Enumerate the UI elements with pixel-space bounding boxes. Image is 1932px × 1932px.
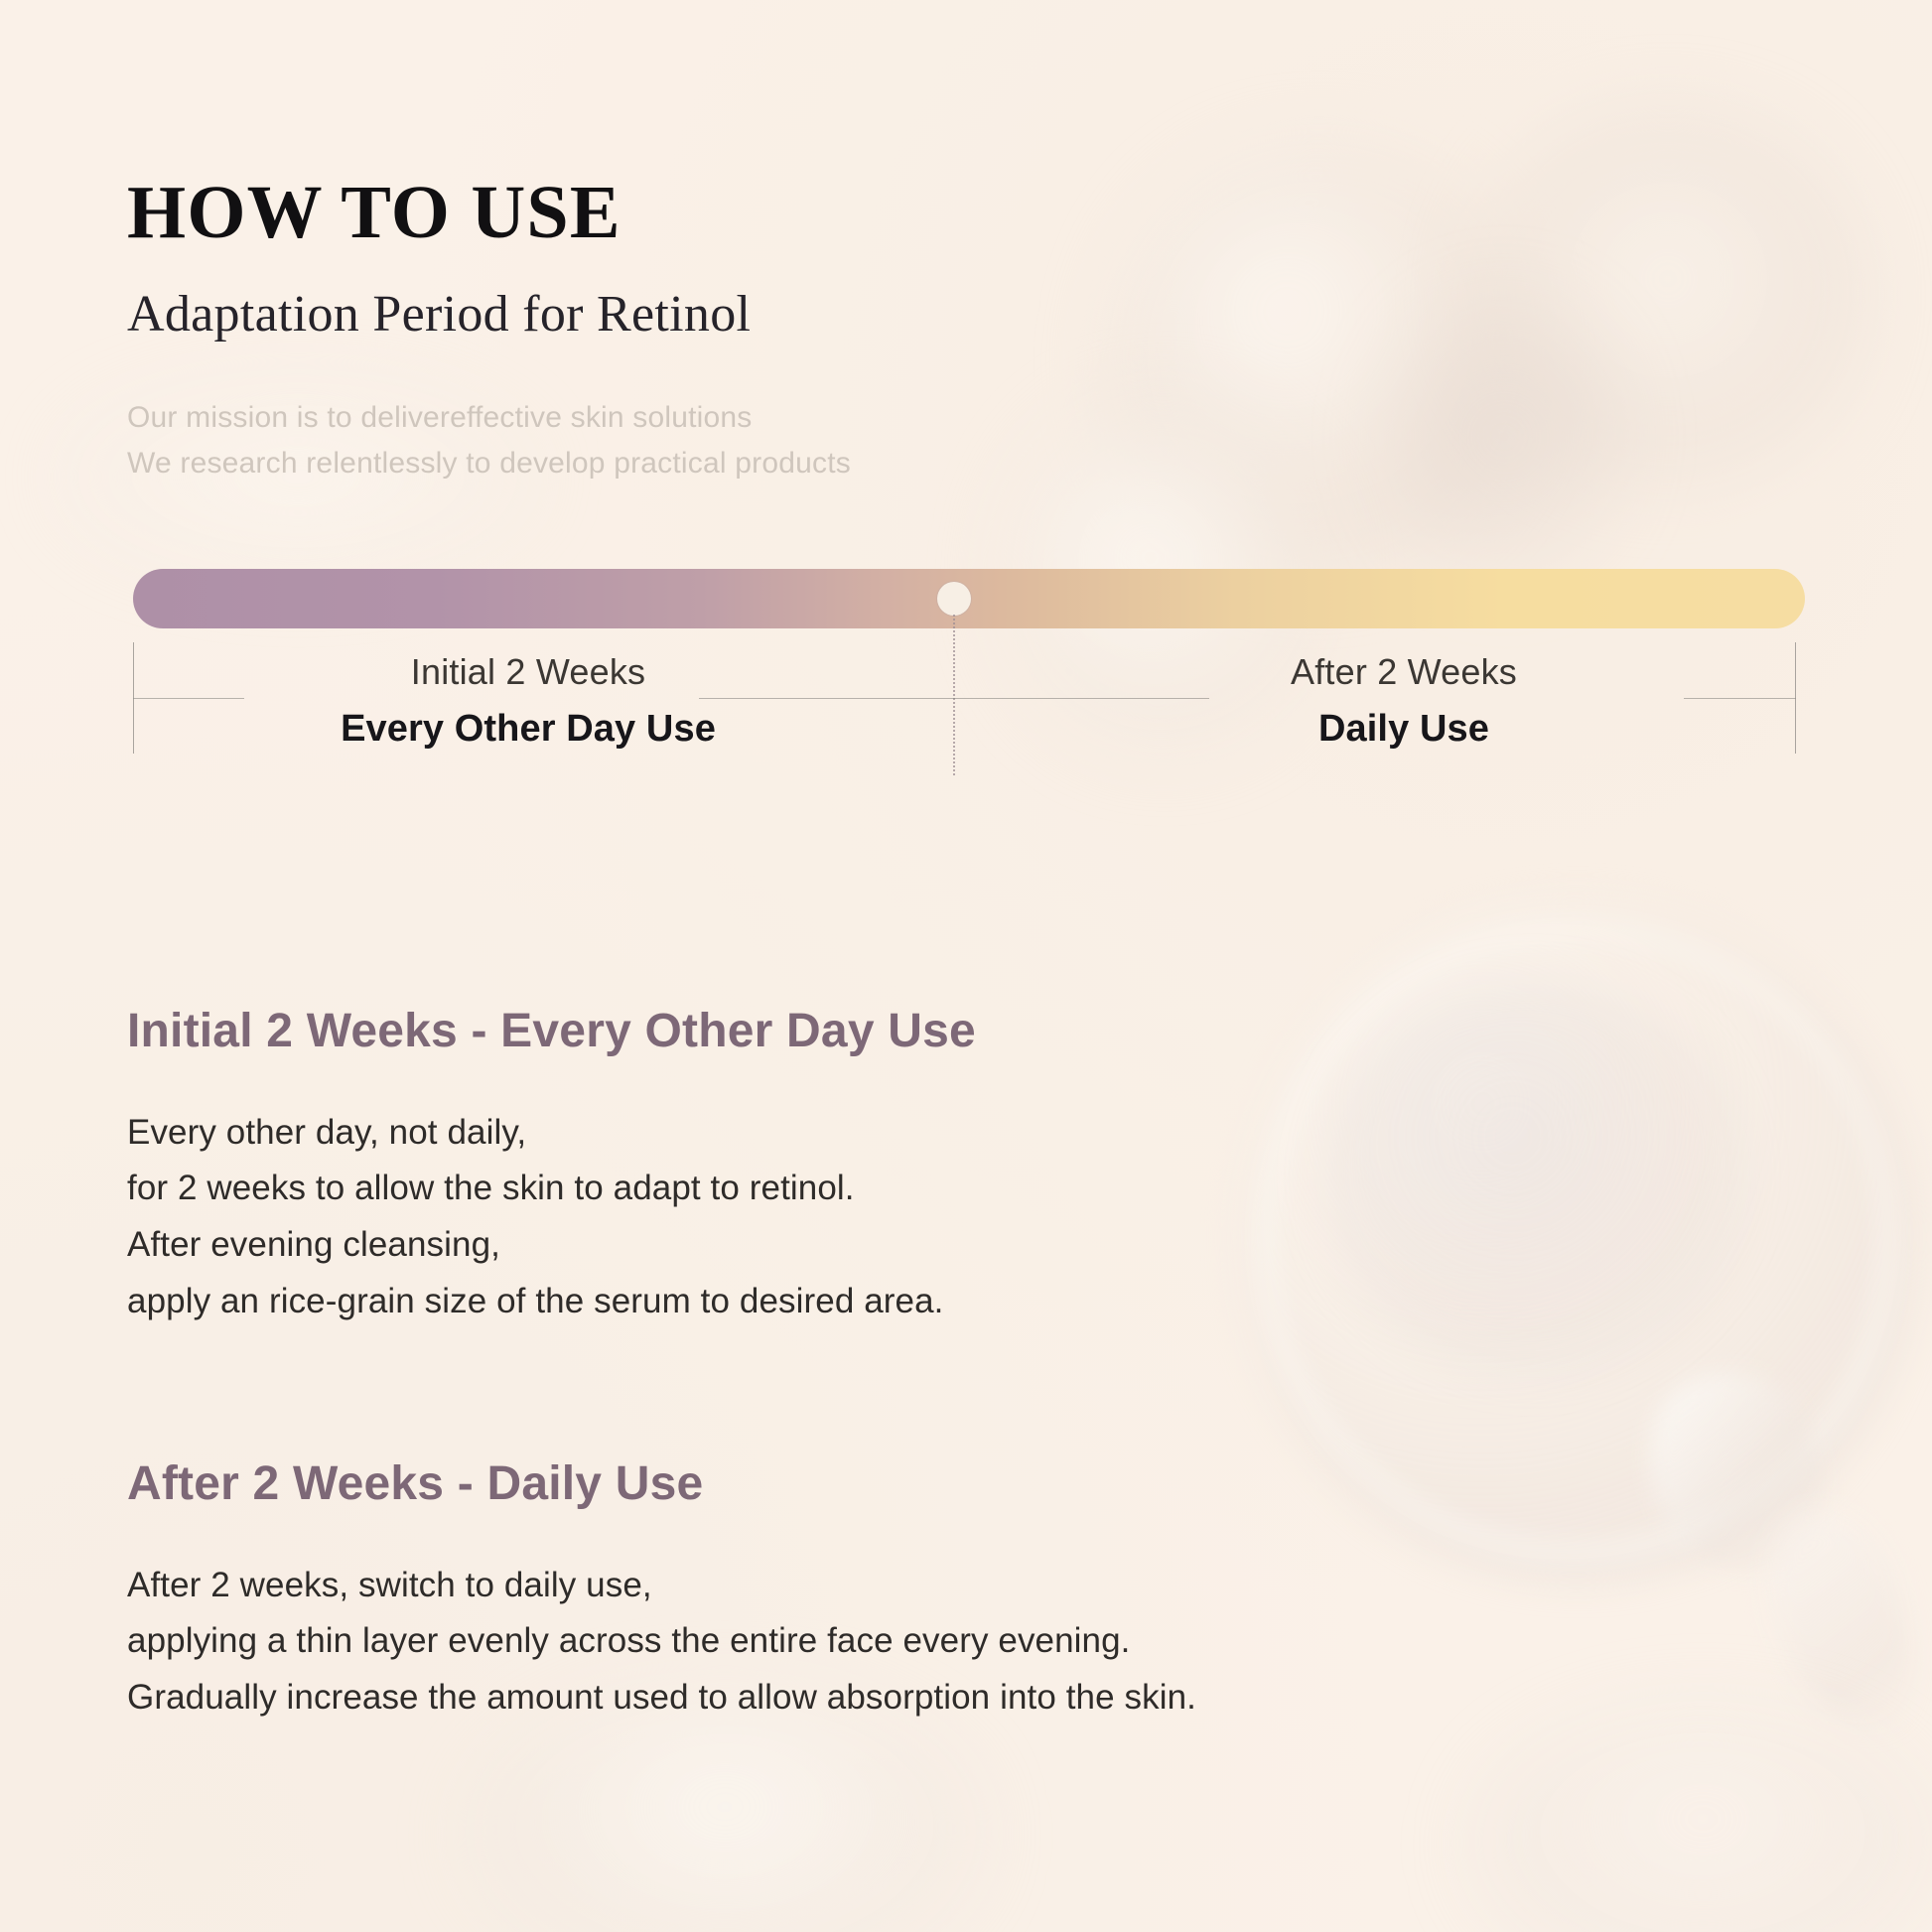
page-subtitle: Adaptation Period for Retinol	[127, 286, 1805, 344]
body-line: After evening cleansing,	[127, 1217, 1805, 1274]
content-container: HOW TO USE Adaptation Period for Retinol…	[0, 0, 1932, 1726]
timeline-phase-1-usage: Every Other Day Use	[244, 706, 812, 752]
timeline-phase-divider	[953, 615, 955, 775]
mission-statement: Our mission is to delivereffective skin …	[127, 395, 1805, 485]
section-heading-after: After 2 Weeks - Daily Use	[127, 1456, 1805, 1511]
adaptation-timeline: Initial 2 Weeks Every Other Day Use Afte…	[127, 569, 1805, 827]
timeline-phase-2-period: After 2 Weeks	[1120, 650, 1688, 694]
section-body-after: After 2 weeks, switch to daily use, appl…	[127, 1558, 1805, 1726]
body-line: apply an rice-grain size of the serum to…	[127, 1274, 1805, 1330]
body-line: Gradually increase the amount used to al…	[127, 1670, 1805, 1726]
body-line: for 2 weeks to allow the skin to adapt t…	[127, 1161, 1805, 1217]
instruction-section-after: After 2 Weeks - Daily Use After 2 weeks,…	[127, 1456, 1805, 1725]
body-line: After 2 weeks, switch to daily use,	[127, 1558, 1805, 1614]
section-body-initial: Every other day, not daily, for 2 weeks …	[127, 1105, 1805, 1330]
instruction-section-initial: Initial 2 Weeks - Every Other Day Use Ev…	[127, 1004, 1805, 1329]
timeline-phase-2-usage: Daily Use	[1120, 706, 1688, 752]
mission-line-1: Our mission is to delivereffective skin …	[127, 395, 1805, 441]
body-line: Every other day, not daily,	[127, 1105, 1805, 1162]
bracket-rule	[1684, 698, 1796, 699]
section-heading-initial: Initial 2 Weeks - Every Other Day Use	[127, 1004, 1805, 1058]
timeline-phase-2-label: After 2 Weeks Daily Use	[1120, 650, 1688, 752]
mission-line-2: We research relentlessly to develop prac…	[127, 441, 1805, 486]
timeline-phase-1-period: Initial 2 Weeks	[244, 650, 812, 694]
header-block: HOW TO USE Adaptation Period for Retinol…	[127, 0, 1805, 485]
body-line: applying a thin layer evenly across the …	[127, 1613, 1805, 1670]
page-title: HOW TO USE	[127, 175, 1805, 250]
bracket-rule	[133, 698, 244, 699]
how-to-use-page: HOW TO USE Adaptation Period for Retinol…	[0, 0, 1932, 1932]
blurred-bubble-shape	[1469, 1708, 1932, 1932]
timeline-phase-1-label: Initial 2 Weeks Every Other Day Use	[244, 650, 812, 752]
